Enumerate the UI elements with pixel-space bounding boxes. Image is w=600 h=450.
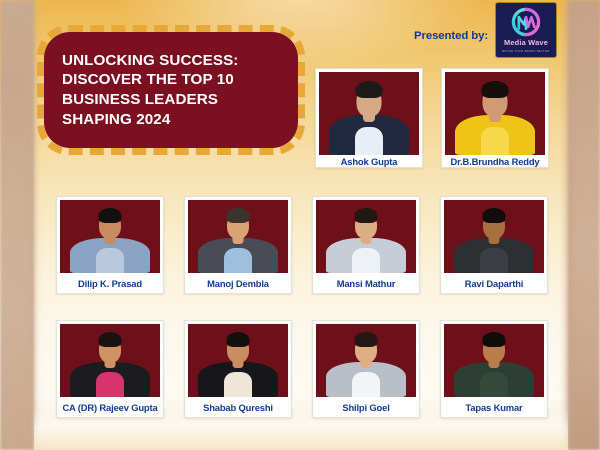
leader-card[interactable]: Ravi Daparthi xyxy=(440,196,548,294)
presented-by-label: Presented by: xyxy=(414,30,488,42)
person-hair xyxy=(99,332,122,347)
person-shirt xyxy=(224,372,252,397)
leader-photo xyxy=(188,324,288,397)
leader-photo xyxy=(60,200,160,273)
leader-card[interactable]: Shabab Qureshi xyxy=(184,320,292,418)
person-hair xyxy=(482,81,509,98)
person-silhouette xyxy=(188,200,288,273)
media-wave-logo: Media Wave BRAND YOUR BRAND BETTER xyxy=(495,2,557,58)
leader-card[interactable]: Dilip K. Prasad xyxy=(56,196,164,294)
person-hair xyxy=(355,208,378,223)
leader-card[interactable]: Shilpi Goel xyxy=(312,320,420,418)
poster-canvas: UNLOCKING SUCCESS: DISCOVER THE TOP 10 B… xyxy=(0,0,600,450)
person-shirt xyxy=(352,248,380,273)
person-hair xyxy=(483,332,506,347)
person-silhouette xyxy=(445,72,545,155)
leader-name: Dr.B.Brundha Reddy xyxy=(445,155,545,167)
person-hair xyxy=(483,208,506,223)
leader-name: Tapas Kumar xyxy=(444,397,544,417)
leader-name: Dilip K. Prasad xyxy=(60,273,160,293)
person-silhouette xyxy=(319,72,419,155)
person-shirt xyxy=(480,248,508,273)
person-shirt xyxy=(480,372,508,397)
person-hair xyxy=(227,332,250,347)
person-silhouette xyxy=(60,324,160,397)
person-silhouette xyxy=(316,200,416,273)
right-edge-blend xyxy=(562,0,572,450)
person-hair xyxy=(227,208,250,223)
person-shirt xyxy=(352,372,380,397)
brand-tagline: BRAND YOUR BRAND BETTER xyxy=(502,49,549,53)
person-silhouette xyxy=(188,324,288,397)
person-silhouette xyxy=(316,324,416,397)
leader-name: Mansi Mathur xyxy=(316,273,416,293)
person-shirt xyxy=(355,127,383,155)
leader-card[interactable]: Ashok Gupta xyxy=(315,68,423,168)
title-badge: UNLOCKING SUCCESS: DISCOVER THE TOP 10 B… xyxy=(44,32,298,148)
person-silhouette xyxy=(444,324,544,397)
brand-name: Media Wave xyxy=(504,38,548,47)
mw-monogram-icon xyxy=(511,7,541,37)
person-shirt xyxy=(96,248,124,273)
person-hair xyxy=(356,81,383,98)
leader-card[interactable]: CA (DR) Rajeev Gupta xyxy=(56,320,164,418)
person-silhouette xyxy=(60,200,160,273)
leader-photo xyxy=(445,72,545,155)
leader-photo xyxy=(444,200,544,273)
leader-photo xyxy=(188,200,288,273)
leader-photo xyxy=(319,72,419,155)
left-edge-strip xyxy=(0,0,34,450)
leader-photo xyxy=(316,200,416,273)
leader-name: Ashok Gupta xyxy=(319,155,419,167)
leader-photo xyxy=(444,324,544,397)
leader-card[interactable]: Tapas Kumar xyxy=(440,320,548,418)
person-shirt xyxy=(481,127,509,155)
leader-card[interactable]: Dr.B.Brundha Reddy xyxy=(441,68,549,168)
person-hair xyxy=(99,208,122,223)
leader-name: Shabab Qureshi xyxy=(188,397,288,417)
leader-card[interactable]: Manoj Dembla xyxy=(184,196,292,294)
leader-name: Ravi Daparthi xyxy=(444,273,544,293)
person-silhouette xyxy=(444,200,544,273)
leader-photo xyxy=(316,324,416,397)
person-shirt xyxy=(96,372,124,397)
right-edge-strip xyxy=(568,0,600,450)
page-title: UNLOCKING SUCCESS: DISCOVER THE TOP 10 B… xyxy=(44,51,256,130)
person-hair xyxy=(355,332,378,347)
leader-name: CA (DR) Rajeev Gupta xyxy=(60,397,160,417)
leader-photo xyxy=(60,324,160,397)
leader-name: Shilpi Goel xyxy=(316,397,416,417)
leader-card[interactable]: Mansi Mathur xyxy=(312,196,420,294)
leader-name: Manoj Dembla xyxy=(188,273,288,293)
person-shirt xyxy=(224,248,252,273)
